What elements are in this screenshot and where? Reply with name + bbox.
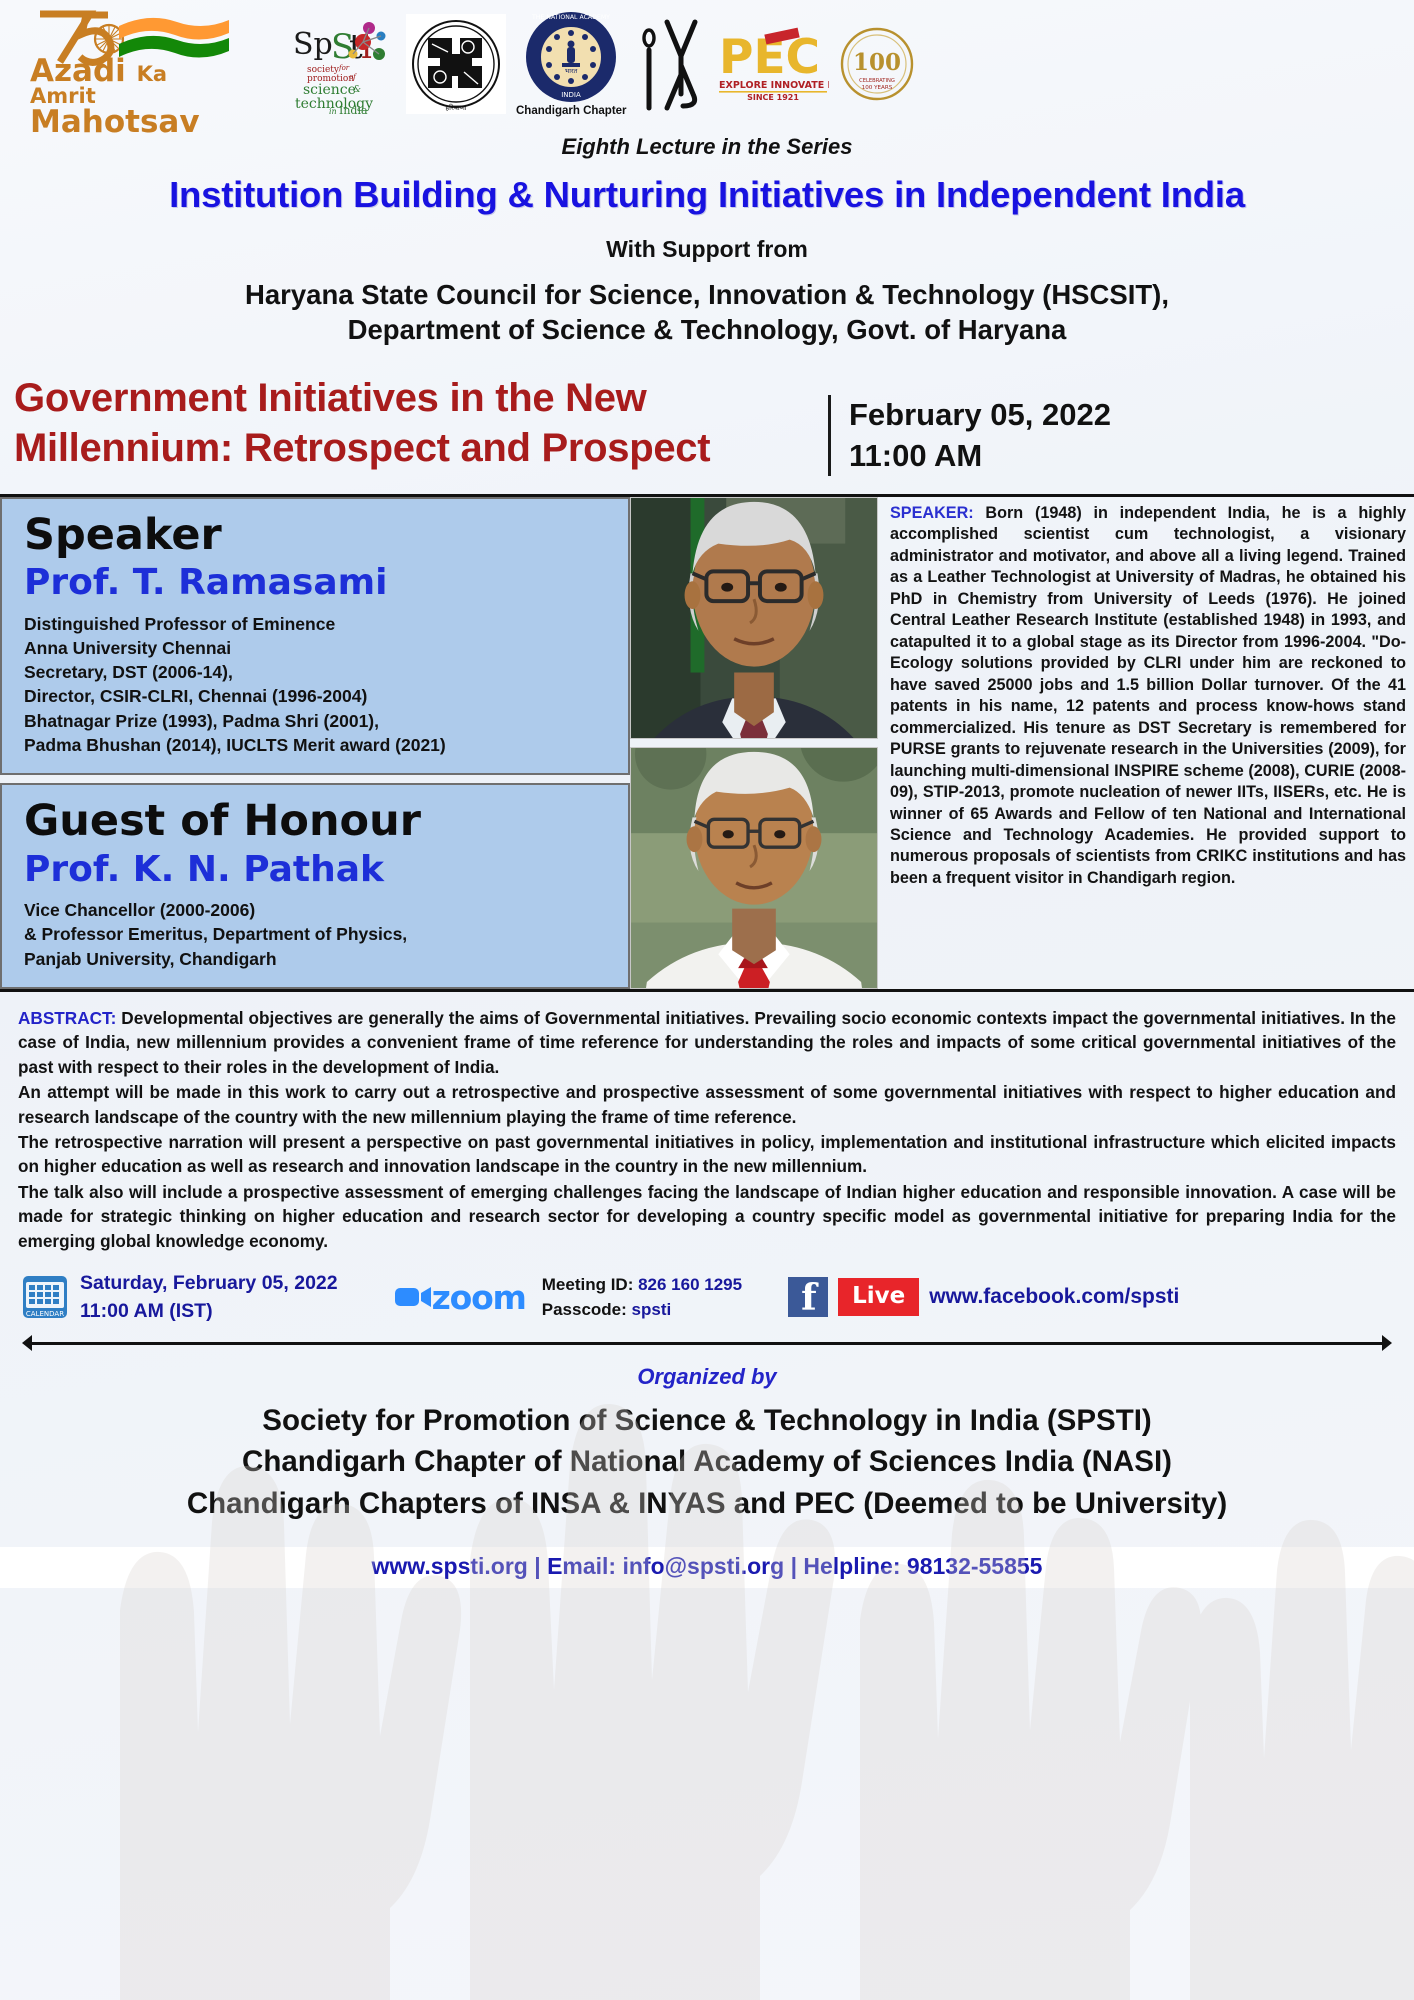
pec-centenary-icon: 100 CELEBRATING 100 YEARS [839, 26, 915, 102]
pec-since: SINCE 1921 [747, 93, 799, 101]
support-org-line2: Department of Science & Technology, Govt… [0, 312, 1414, 347]
hscsit-logo-icon: हरियाणा [406, 14, 506, 114]
abstract-label: ABSTRACT: [18, 1008, 116, 1028]
spsti-logo-icon: Sp S t i society for promotion [291, 14, 396, 114]
speaker-detail-line: Director, CSIR-CLRI, Chennai (1996-2004) [24, 684, 610, 708]
speaker-portrait-image [631, 498, 877, 738]
facebook-letter: f [801, 1280, 817, 1316]
speaker-role: Speaker [24, 513, 610, 558]
speaker-detail-line: Anna University Chennai [24, 636, 610, 660]
separator: | [534, 1553, 540, 1579]
double-arrow-divider [22, 1334, 1392, 1352]
divider-line [30, 1342, 1384, 1345]
speaker-card: Speaker Prof. T. Ramasami Distinguished … [0, 497, 630, 775]
zoom-credentials: Meeting ID: 826 160 1295 Passcode: spsti [542, 1272, 742, 1323]
nasi-chapter-caption: Chandigarh Chapter [516, 105, 627, 117]
centenary-l2: 100 YEARS [861, 85, 892, 91]
abstract-paragraph: An attempt will be made in this work to … [18, 1080, 1396, 1129]
guest-detail-line: & Professor Emeritus, Department of Phys… [24, 922, 610, 946]
speaker-cards: Speaker Prof. T. Ramasami Distinguished … [0, 497, 630, 989]
facebook-icon[interactable]: f [788, 1277, 828, 1317]
helpline-text: Helpline: 98132-55855 [803, 1553, 1042, 1579]
ka-word: Ka [137, 62, 167, 86]
speaker-bio: SPEAKER: Born (1948) in independent Indi… [878, 497, 1414, 989]
abstract-section: ABSTRACT: Developmental objectives are g… [0, 992, 1414, 1259]
series-title: Institution Building & Nurturing Initiat… [0, 174, 1414, 216]
talk-date: February 05, 2022 [849, 395, 1111, 435]
mahotsav-word: Mahotsav [30, 104, 200, 140]
series-line: Eighth Lecture in the Series [0, 134, 1414, 160]
logo-spsti: Sp S t i society for promotion [291, 14, 396, 114]
guest-name: Prof. K. N. Pathak [24, 849, 610, 890]
separator: | [791, 1553, 797, 1579]
guest-photo [630, 747, 878, 989]
organizer-item: Chandigarh Chapter of National Academy o… [0, 1441, 1414, 1483]
pec-logo-icon: PEC EXPLORE INNOVATE EXCEL SINCE 1921 [717, 27, 829, 101]
meeting-id-label: Meeting ID: [542, 1275, 634, 1294]
abstract-paragraph: The retrospective narration will present… [18, 1130, 1396, 1179]
logo-pec: PEC EXPLORE INNOVATE EXCEL SINCE 1921 [717, 27, 829, 101]
logo-inyas [637, 16, 707, 112]
organizer-item: Society for Promotion of Science & Techn… [0, 1400, 1414, 1442]
nasi-logo-icon: THE NATIONAL ACADEMY भारत INDIA [525, 11, 617, 103]
svg-text:THE NATIONAL ACADEMY: THE NATIONAL ACADEMY [531, 14, 610, 21]
organizer-item: Chandigarh Chapters of INSA & INYAS and … [0, 1483, 1414, 1525]
abstract-paragraph: The talk also will include a prospective… [18, 1180, 1396, 1253]
speaker-bio-text: Born (1948) in independent India, he is … [890, 504, 1406, 887]
speaker-bio-label: SPEAKER: [890, 504, 974, 522]
zoom-logo: zoom [394, 1278, 526, 1317]
passcode-value: spsti [632, 1300, 672, 1319]
logo-pec-centenary: 100 CELEBRATING 100 YEARS [839, 26, 915, 102]
logo-hscsit: हरियाणा [406, 14, 506, 114]
partner-logos: Sp S t i society for promotion [291, 11, 915, 117]
contact-bar: www.spsti.org | Email: info@spsti.org | … [0, 1547, 1414, 1588]
arrow-right-head [1382, 1335, 1392, 1351]
calendar-word: CALENDAR [26, 1310, 64, 1318]
organized-by-label: Organized by [0, 1364, 1414, 1390]
azadi-wordmark: Azadi Ka Amrit Mahotsav [30, 56, 249, 137]
speaker-detail-line: Distinguished Professor of Eminence [24, 612, 610, 636]
abstract-paragraph: ABSTRACT: Developmental objectives are g… [18, 1006, 1396, 1079]
svg-text:India: India [339, 104, 368, 114]
logo-row: Azadi Ka Amrit Mahotsav Sp S t i [0, 0, 1414, 128]
email-link[interactable]: Email: info@spsti.org [547, 1553, 784, 1579]
svg-text:&: & [353, 85, 361, 95]
azadi-ka-amrit-mahotsav-logo: Azadi Ka Amrit Mahotsav [24, 4, 249, 124]
speakers-band: Speaker Prof. T. Ramasami Distinguished … [0, 494, 1414, 992]
facebook-url[interactable]: www.facebook.com/spsti [929, 1285, 1179, 1309]
video-camera-icon [394, 1282, 432, 1312]
spsti-sp: Sp [293, 27, 333, 62]
zoom-wordmark: zoom [432, 1278, 526, 1317]
guest-detail-line: Vice Chancellor (2000-2006) [24, 898, 610, 922]
guest-details: Vice Chancellor (2000-2006) & Professor … [24, 898, 610, 971]
event-when: Saturday, February 05, 2022 11:00 AM (IS… [80, 1269, 338, 1326]
calendar-icon: CALENDAR [22, 1274, 68, 1320]
talk-title: Government Initiatives in the New Millen… [14, 373, 814, 473]
centenary-l1: CELEBRATING [859, 78, 895, 84]
guest-detail-line: Panjab University, Chandigarh [24, 947, 610, 971]
svg-text:भारत: भारत [565, 67, 578, 75]
inyas-logo-icon [637, 16, 707, 112]
guest-of-honour-card: Guest of Honour Prof. K. N. Pathak Vice … [0, 783, 630, 988]
event-time-ist: 11:00 AM (IST) [80, 1297, 338, 1325]
svg-text:of: of [349, 73, 357, 81]
svg-text:INDIA: INDIA [561, 91, 581, 99]
talk-datetime: February 05, 2022 11:00 AM [828, 395, 1111, 476]
event-day-date: Saturday, February 05, 2022 [80, 1269, 338, 1297]
guest-role: Guest of Honour [24, 799, 610, 844]
zoom-block: zoom Meeting ID: 826 160 1295 Passcode: … [394, 1272, 742, 1323]
guest-portrait-image [631, 748, 877, 988]
talk-title-row: Government Initiatives in the New Millen… [0, 373, 1414, 476]
speaker-detail-line: Secretary, DST (2006-14), [24, 660, 610, 684]
talk-time: 11:00 AM [849, 436, 1111, 476]
logo-nasi: THE NATIONAL ACADEMY भारत INDIA Chandiga… [516, 11, 627, 117]
poster-root: Azadi Ka Amrit Mahotsav Sp S t i [0, 0, 1414, 2000]
speaker-photo [630, 497, 878, 739]
pec-tagline: EXPLORE INNOVATE EXCEL [719, 80, 829, 91]
speaker-detail-line: Padma Bhushan (2014), IUCLTS Merit award… [24, 733, 610, 757]
with-support-label: With Support from [0, 236, 1414, 263]
organizer-list: Society for Promotion of Science & Techn… [0, 1400, 1414, 1526]
centenary-number: 100 [853, 49, 901, 76]
website-link[interactable]: www.spsti.org [372, 1553, 528, 1579]
svg-text:in: in [329, 107, 337, 114]
talk-title-line2: Millennium: Retrospect and Prospect [14, 423, 814, 473]
passcode-label: Passcode: [542, 1300, 627, 1319]
meeting-id-value: 826 160 1295 [638, 1275, 742, 1294]
facebook-live-block: f Live www.facebook.com/spsti [788, 1277, 1179, 1317]
logistics-bar: CALENDAR Saturday, February 05, 2022 11:… [0, 1259, 1414, 1326]
support-org-line1: Haryana State Council for Science, Innov… [0, 277, 1414, 312]
support-organisation: Haryana State Council for Science, Innov… [0, 277, 1414, 347]
abstract-text-1: Developmental objectives are generally t… [18, 1008, 1396, 1077]
speaker-photos [630, 497, 878, 989]
speaker-detail-line: Bhatnagar Prize (1993), Padma Shri (2001… [24, 709, 610, 733]
talk-title-line1: Government Initiatives in the New [14, 373, 814, 423]
svg-text:हरियाणा: हरियाणा [445, 103, 466, 112]
speaker-name: Prof. T. Ramasami [24, 562, 610, 603]
live-badge: Live [838, 1278, 919, 1316]
speaker-details: Distinguished Professor of Eminence Anna… [24, 612, 610, 758]
svg-text:for: for [338, 64, 350, 72]
